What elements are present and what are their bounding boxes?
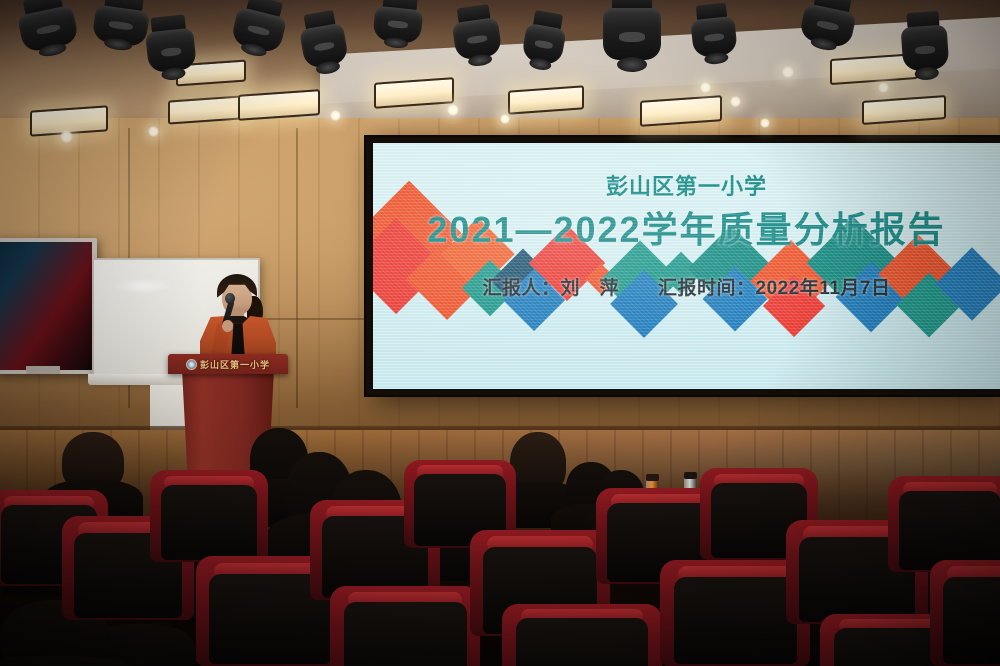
auditorium-seat <box>330 586 480 666</box>
auditorium-seat <box>502 604 662 666</box>
auditorium-photo: 彭山区第一小学 2021—2022学年质量分析报告 汇报人：刘 萍 汇报时间：2… <box>0 0 1000 666</box>
seat-rows <box>0 0 1000 666</box>
auditorium-seat <box>930 560 1000 666</box>
auditorium-seat <box>150 470 268 562</box>
auditorium-seat <box>888 476 1000 572</box>
